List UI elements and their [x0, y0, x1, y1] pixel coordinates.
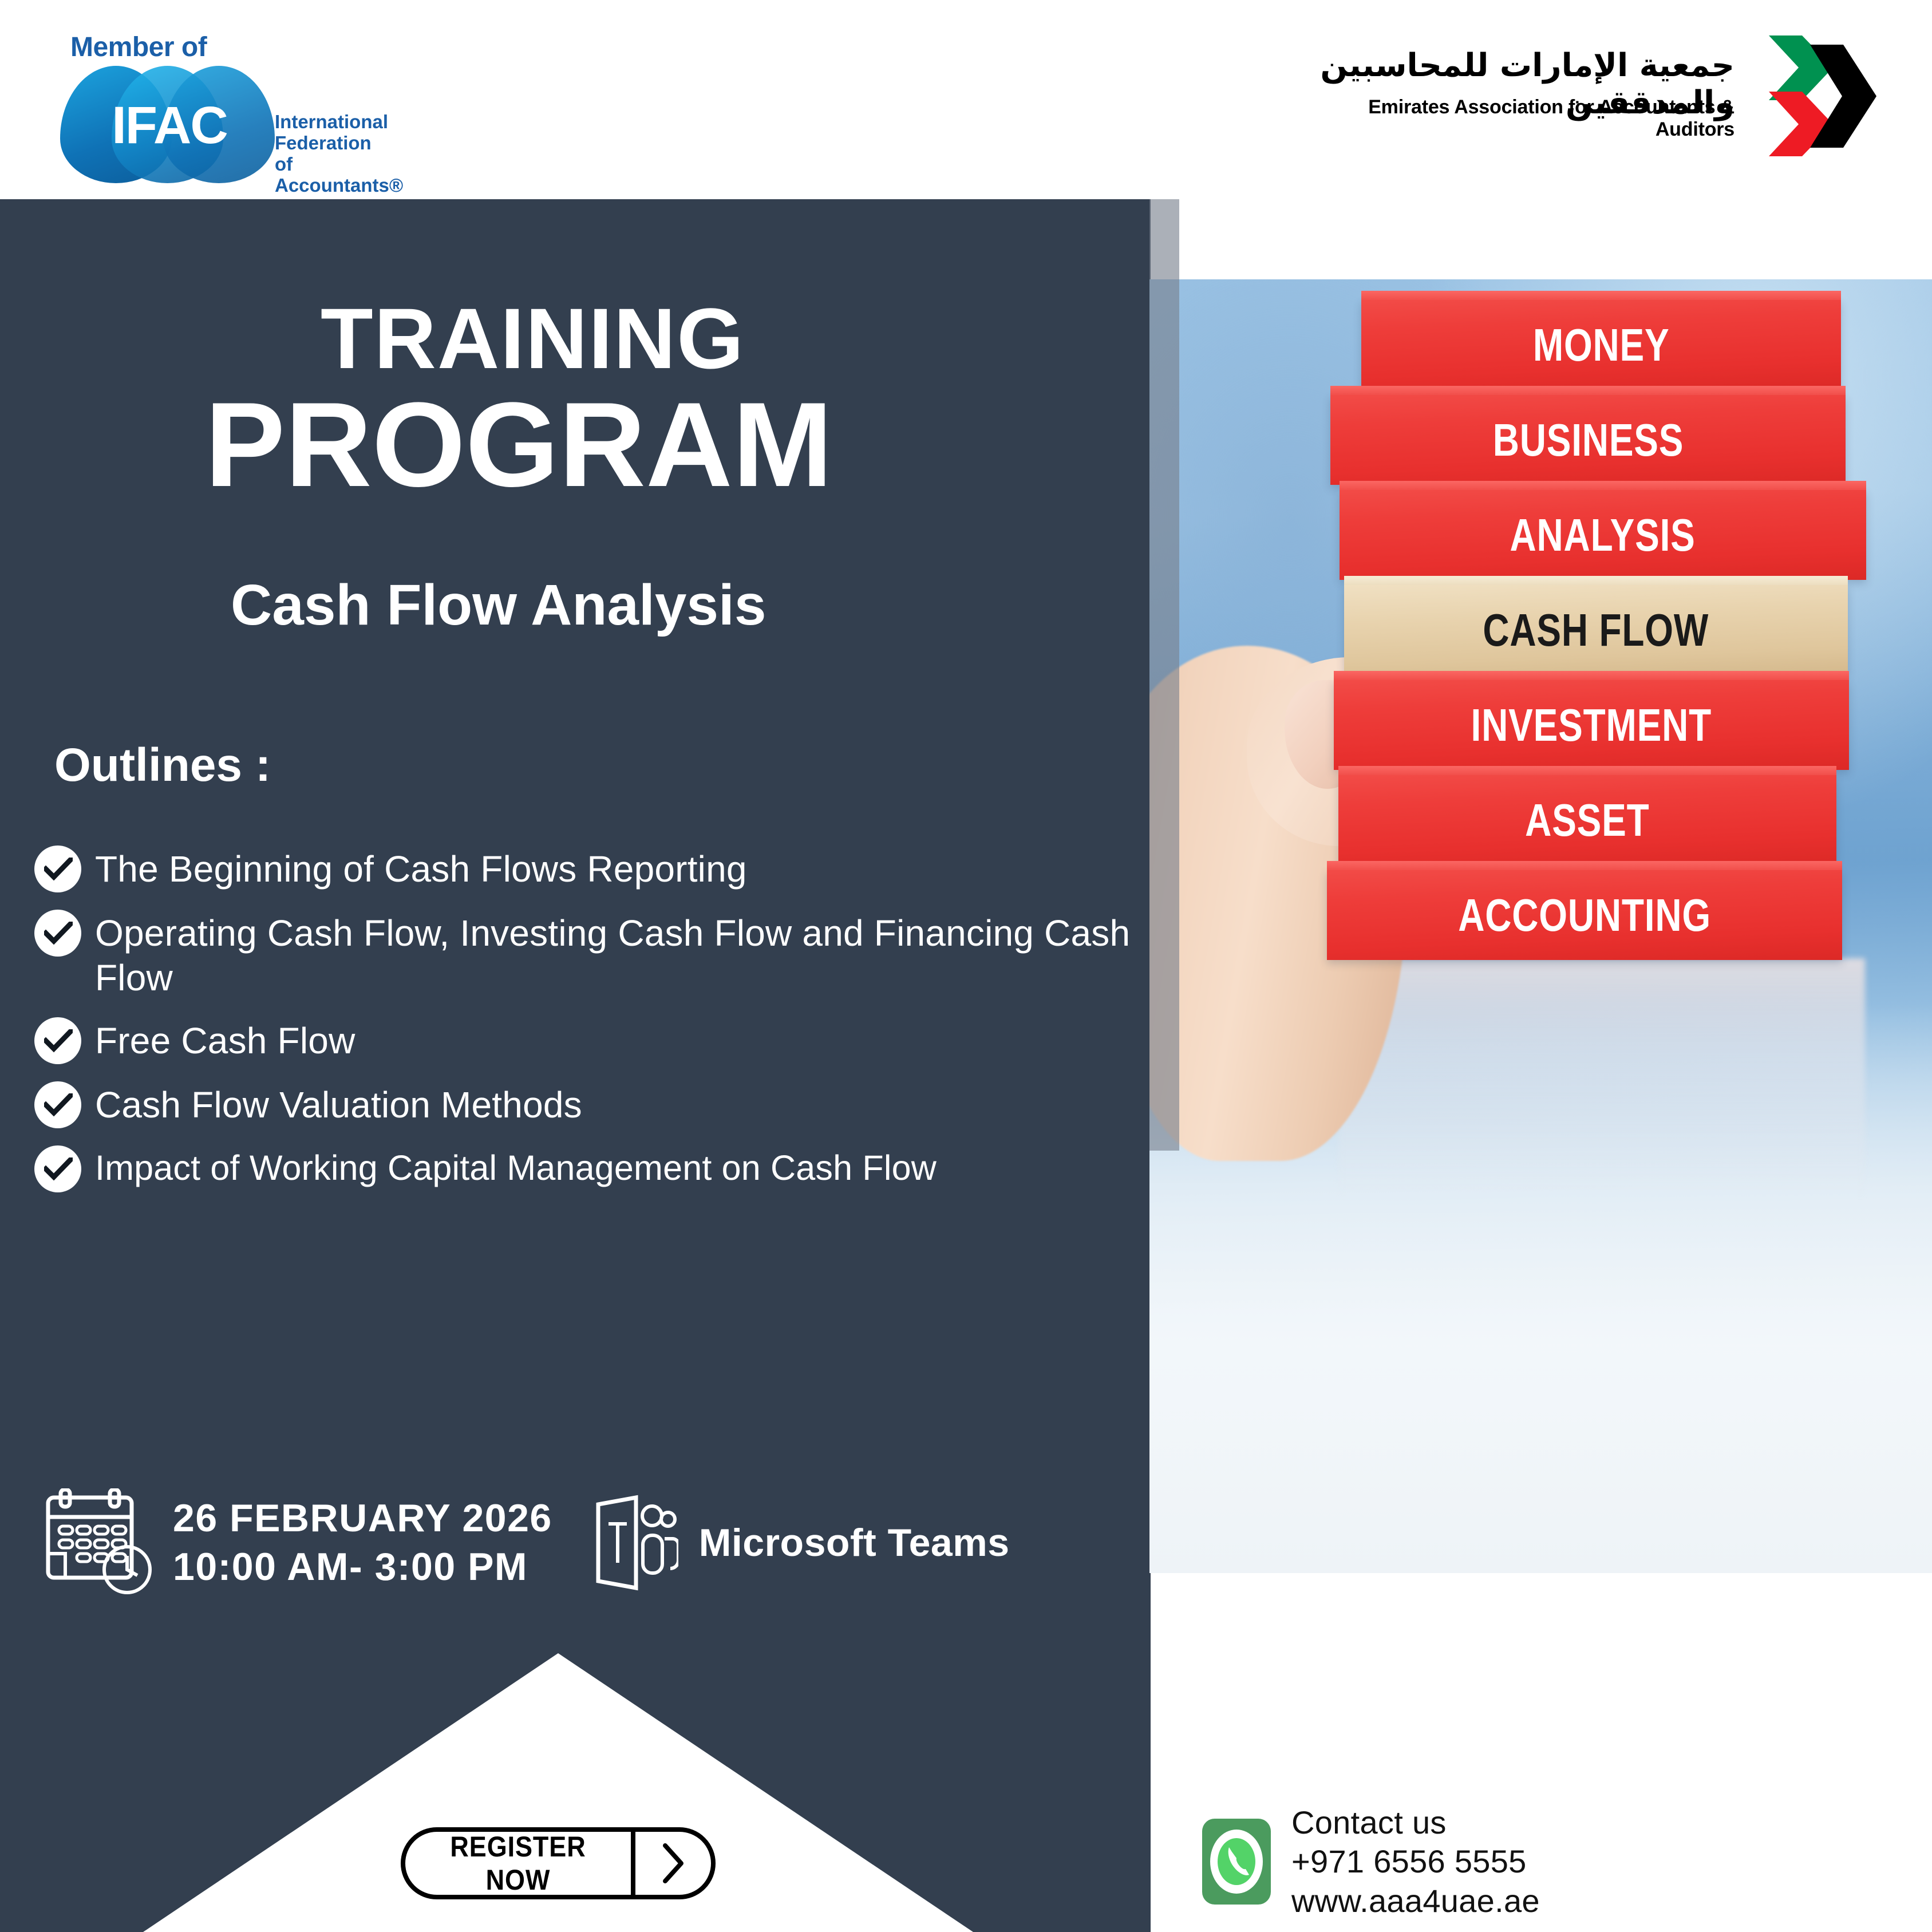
list-item: Impact of Working Capital Management on …	[34, 1144, 1145, 1192]
event-platform: Microsoft Teams	[699, 1520, 1010, 1565]
block-investment: INVESTMENT	[1334, 680, 1849, 770]
register-now-label: REGISTER NOW	[417, 1830, 620, 1897]
check-icon	[34, 846, 81, 892]
page-subtitle: Cash Flow Analysis	[231, 572, 766, 638]
list-item: Free Cash Flow	[34, 1016, 1145, 1064]
list-item-label: Free Cash Flow	[95, 1016, 355, 1063]
list-item-label: Impact of Working Capital Management on …	[95, 1144, 937, 1189]
outlines-list: The Beginning of Cash Flows Reporting Op…	[34, 844, 1145, 1208]
blocks-reflection	[1338, 958, 1865, 1199]
contact-block: Contact us +971 6556 5555 www.aaa4uae.ae	[1202, 1803, 1540, 1921]
eaaa-chevron-mark-icon	[1746, 34, 1878, 157]
calendar-clock-icon	[40, 1488, 160, 1597]
panel-overlay-strip	[1149, 199, 1179, 1151]
wooden-block-stack: MONEY BUSINESS ANALYSIS CASH FLOW INVEST…	[1311, 300, 1883, 965]
chevron-right-icon[interactable]	[635, 1842, 711, 1884]
list-item-label: Operating Cash Flow, Investing Cash Flow…	[95, 908, 1145, 1000]
contact-website[interactable]: www.aaa4uae.ae	[1291, 1882, 1540, 1921]
event-info-row: 26 FEBRUARY 2026 10:00 AM- 3:00 PM Micro…	[40, 1488, 1010, 1597]
ifac-wordmark: IFAC	[75, 99, 264, 152]
block-money: MONEY	[1361, 300, 1841, 390]
block-accounting: ACCOUNTING	[1327, 870, 1842, 960]
check-icon	[34, 1081, 81, 1128]
block-cash-flow: CASH FLOW	[1344, 585, 1848, 675]
microsoft-teams-icon	[587, 1494, 678, 1591]
button-divider	[631, 1832, 635, 1895]
ifac-logo: Member of IFAC InternationalFederationof…	[54, 31, 421, 175]
check-icon	[34, 1145, 81, 1192]
event-time: 10:00 AM- 3:00 PM	[173, 1543, 552, 1591]
list-item: Cash Flow Valuation Methods	[34, 1080, 1145, 1128]
register-now-button[interactable]: REGISTER NOW	[401, 1827, 716, 1899]
contact-phone[interactable]: +971 6556 5555	[1291, 1842, 1540, 1881]
block-business: BUSINESS	[1330, 395, 1846, 485]
poster-header: Member of IFAC InternationalFederationof…	[0, 0, 1932, 199]
list-item-label: Cash Flow Valuation Methods	[95, 1080, 582, 1127]
page-title-line2: PROGRAM	[205, 385, 833, 505]
whatsapp-icon[interactable]	[1202, 1819, 1271, 1905]
list-item: Operating Cash Flow, Investing Cash Flow…	[34, 908, 1145, 1000]
block-analysis: ANALYSIS	[1340, 490, 1866, 580]
page-title-line1: TRAINING	[321, 295, 745, 381]
wooden-blocks-photo: MONEY BUSINESS ANALYSIS CASH FLOW INVEST…	[1149, 279, 1932, 1573]
list-item: The Beginning of Cash Flows Reporting	[34, 844, 1145, 892]
outlines-heading: Outlines :	[54, 738, 271, 792]
ifac-member-of-label: Member of	[70, 31, 207, 63]
eaaa-logo: جمعية الإمارات للمحاسبين والمدققين Emira…	[1271, 34, 1878, 160]
check-icon	[34, 910, 81, 957]
event-date: 26 FEBRUARY 2026	[173, 1494, 552, 1543]
contact-details: Contact us +971 6556 5555 www.aaa4uae.ae	[1291, 1803, 1540, 1921]
list-item-label: The Beginning of Cash Flows Reporting	[95, 844, 747, 891]
contact-heading: Contact us	[1291, 1803, 1540, 1842]
ifac-tagline: InternationalFederationof Accountants®	[275, 112, 421, 196]
check-icon	[34, 1017, 81, 1064]
eaaa-english-name: Emirates Association for Accountants & A…	[1299, 96, 1735, 141]
event-datetime: 26 FEBRUARY 2026 10:00 AM- 3:00 PM	[173, 1494, 552, 1591]
block-asset: ASSET	[1338, 775, 1836, 865]
